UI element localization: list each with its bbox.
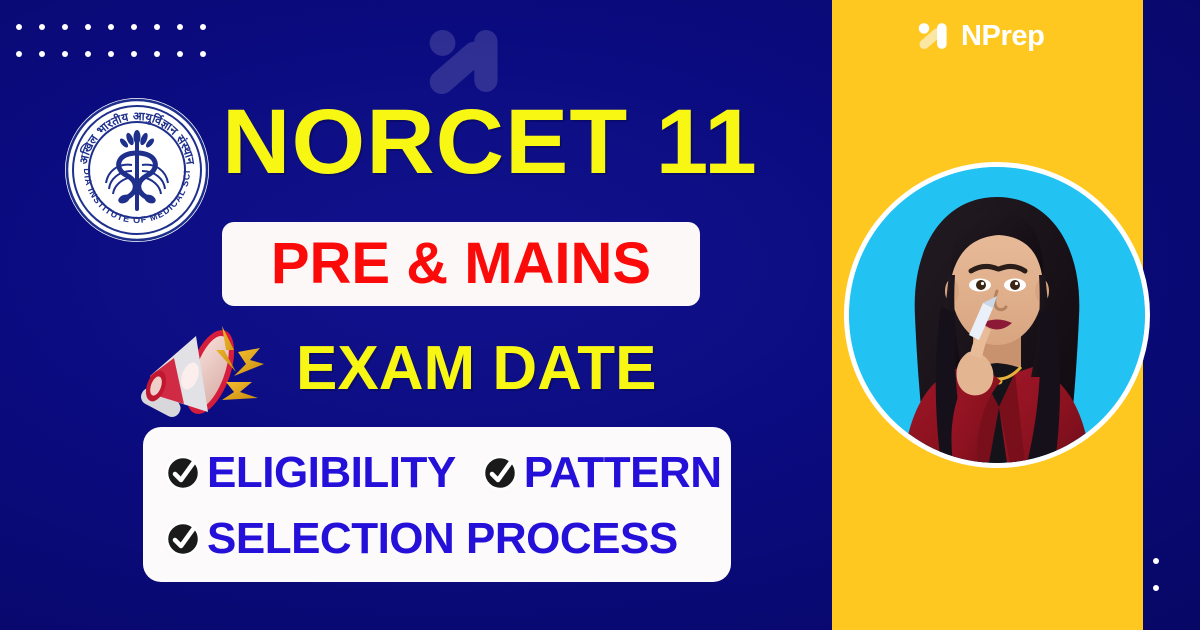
feature-label: PATTERN — [524, 451, 722, 495]
check-circle-icon — [165, 455, 201, 491]
exam-date-row: EXAM DATE — [134, 318, 734, 418]
feature-pattern[interactable]: PATTERN — [482, 451, 722, 495]
dot — [1153, 585, 1159, 591]
feature-label: ELIGIBILITY — [207, 451, 456, 495]
check-circle-icon — [482, 455, 518, 491]
subtitle-text: PRE & MAINS — [271, 235, 651, 293]
features-card: ELIGIBILITY PATTERN — [143, 427, 731, 582]
dot — [1153, 558, 1159, 564]
content-column: अखिल भारतीय आयुर्विज्ञान संस्थान ALL IND… — [0, 0, 800, 630]
megaphone-announcement-icon — [134, 320, 266, 428]
subtitle-badge: PRE & MAINS — [222, 222, 700, 306]
instructor-portrait — [844, 162, 1150, 468]
feature-label: SELECTION PROCESS — [207, 517, 678, 561]
aiims-emblem-icon: अखिल भारतीय आयुर्विज्ञान संस्थान ALL IND… — [62, 95, 212, 245]
poster-canvas: NPrep — [0, 0, 1200, 630]
exam-date-label: EXAM DATE — [296, 338, 657, 400]
nprep-n-mark-icon — [916, 19, 950, 53]
features-row-1: ELIGIBILITY PATTERN — [165, 451, 721, 495]
nprep-wordmark: NPrep — [961, 22, 1044, 51]
nprep-logo[interactable]: NPrep — [916, 19, 1044, 53]
features-row-2: SELECTION PROCESS — [165, 517, 678, 561]
check-circle-icon — [165, 521, 201, 557]
page-title: NORCET 11 — [222, 96, 758, 188]
feature-eligibility[interactable]: ELIGIBILITY — [165, 451, 456, 495]
feature-selection-process[interactable]: SELECTION PROCESS — [165, 517, 678, 561]
